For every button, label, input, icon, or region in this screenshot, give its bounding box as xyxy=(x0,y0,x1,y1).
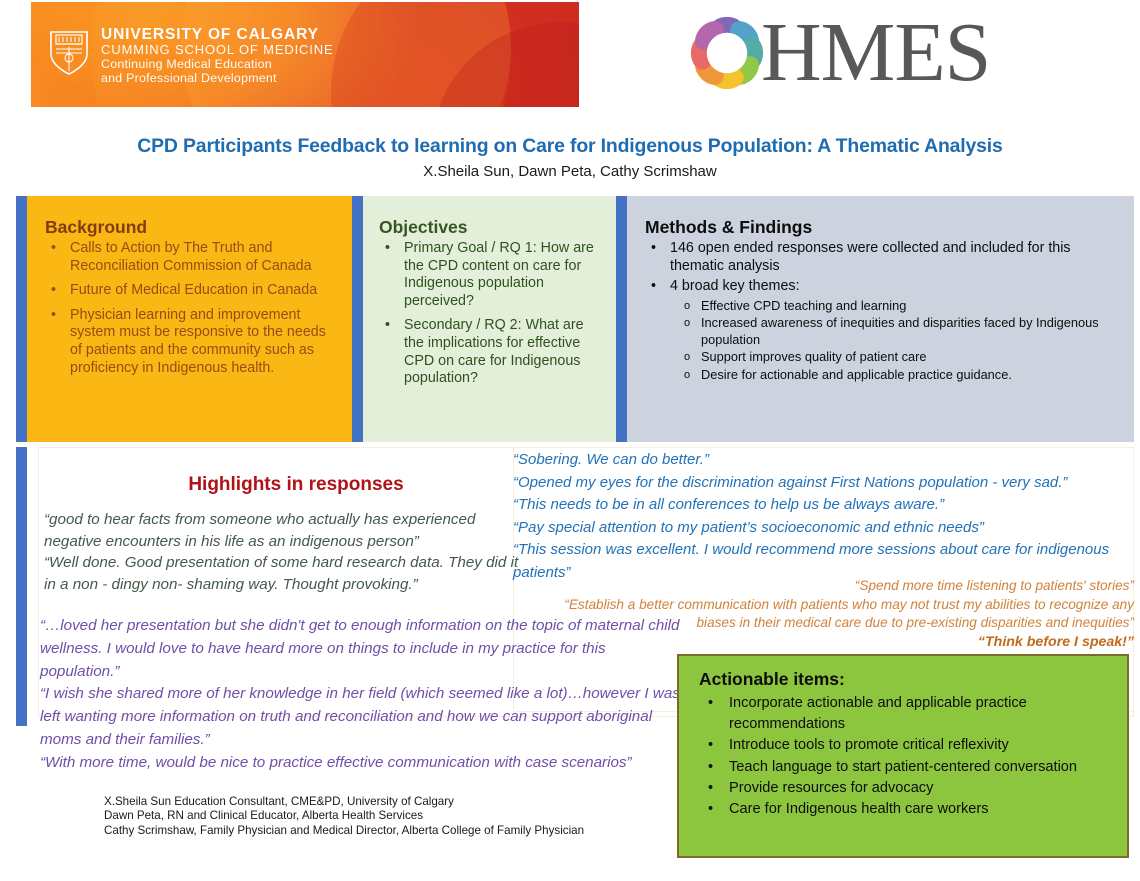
list-item: •4 broad key themes: oEffective CPD teac… xyxy=(645,278,1122,383)
bullet-icon: • xyxy=(651,278,656,296)
list-item-text: Care for Indigenous health care workers xyxy=(729,801,989,817)
list-item: oSupport improves quality of patient car… xyxy=(670,349,1122,366)
quote-text: “Pay special attention to my patient’s s… xyxy=(513,517,1133,540)
quote-text: “Well done. Good presentation of some ha… xyxy=(44,552,522,595)
bullet-icon: • xyxy=(708,778,713,799)
list-item-text: 146 open ended responses were collected … xyxy=(670,240,1071,274)
list-item: •Provide resources for advocacy xyxy=(699,778,1117,799)
list-item: oIncreased awareness of inequities and d… xyxy=(670,315,1122,348)
uofc-line-2: CUMMING SCHOOL OF MEDICINE xyxy=(101,43,334,58)
blue-divider-bar-lower xyxy=(16,447,27,726)
green-quote-group: “good to hear facts from someone who act… xyxy=(44,509,522,595)
list-item: •Care for Indigenous health care workers xyxy=(699,799,1117,820)
highlights-heading: Highlights in responses xyxy=(86,473,506,497)
blue-divider-bar-middle-1 xyxy=(352,196,363,442)
quote-text: “…loved her presentation but she didn't … xyxy=(40,615,688,683)
list-item-text: Effective CPD teaching and learning xyxy=(701,298,906,313)
list-item-text: Physician learning and improvement syste… xyxy=(70,307,326,376)
quote-text: “This needs to be in all conferences to … xyxy=(513,494,1133,517)
background-list: •Calls to Action by The Truth and Reconc… xyxy=(45,240,338,377)
panel-methods-and-findings: Methods & Findings •146 open ended respo… xyxy=(627,196,1134,442)
circle-bullet-icon: o xyxy=(684,298,690,315)
list-item-text: Desire for actionable and applicable pra… xyxy=(701,367,1012,382)
list-item: •Primary Goal / RQ 1: How are the CPD co… xyxy=(379,240,606,310)
methods-themes-list: oEffective CPD teaching and learning oIn… xyxy=(670,298,1122,384)
bullet-icon: • xyxy=(708,735,713,756)
blue-divider-bar-left xyxy=(16,196,27,442)
list-item: •Introduce tools to promote critical ref… xyxy=(699,735,1117,756)
methods-heading: Methods & Findings xyxy=(645,216,1122,238)
quote-text: “good to hear facts from someone who act… xyxy=(44,509,522,552)
circle-bullet-icon: o xyxy=(684,315,690,332)
methods-list: •146 open ended responses were collected… xyxy=(645,240,1122,383)
list-item: •Incorporate actionable and applicable p… xyxy=(699,693,1117,735)
list-item: •146 open ended responses were collected… xyxy=(645,240,1122,275)
list-item: •Teach language to start patient-centere… xyxy=(699,757,1117,778)
title-block: CPD Participants Feedback to learning on… xyxy=(0,134,1140,182)
actionable-items-box: Actionable items: •Incorporate actionabl… xyxy=(677,654,1129,858)
bullet-icon: • xyxy=(51,240,56,258)
quote-text: “Opened my eyes for the discrimination a… xyxy=(513,472,1133,495)
bullet-icon: • xyxy=(651,240,656,258)
uofc-line-3: Continuing Medical Education xyxy=(101,58,334,72)
list-item: •Physician learning and improvement syst… xyxy=(45,307,338,377)
list-item: •Future of Medical Education in Canada xyxy=(45,282,338,300)
list-item: •Secondary / RQ 2: What are the implicat… xyxy=(379,317,606,387)
university-crest-icon xyxy=(47,28,91,76)
uofc-line-4: and Professional Development xyxy=(101,72,334,86)
bullet-icon: • xyxy=(385,240,390,258)
hmes-ring-icon xyxy=(683,9,771,97)
bullet-icon: • xyxy=(708,693,713,714)
list-item-text: Secondary / RQ 2: What are the implicati… xyxy=(404,317,584,386)
bullet-icon: • xyxy=(51,307,56,325)
list-item-text: Future of Medical Education in Canada xyxy=(70,282,317,298)
author-list: X.Sheila Sun, Dawn Peta, Cathy Scrimshaw xyxy=(0,161,1140,182)
list-item-text: Teach language to start patient-centered… xyxy=(729,759,1077,775)
quote-text: “Sobering. We can do better.” xyxy=(513,449,1133,472)
panel-objectives: Objectives •Primary Goal / RQ 1: How are… xyxy=(363,196,616,442)
list-item-text: Increased awareness of inequities and di… xyxy=(701,315,1099,347)
university-of-calgary-wordmark: UNIVERSITY OF CALGARY CUMMING SCHOOL OF … xyxy=(101,26,334,86)
list-item-text: Incorporate actionable and applicable pr… xyxy=(729,695,1027,732)
background-heading: Background xyxy=(45,216,338,238)
circle-bullet-icon: o xyxy=(684,349,690,366)
uofc-line-1: UNIVERSITY OF CALGARY xyxy=(101,26,334,43)
list-item-text: Primary Goal / RQ 1: How are the CPD con… xyxy=(404,240,594,309)
objectives-list: •Primary Goal / RQ 1: How are the CPD co… xyxy=(379,240,606,388)
author-credits: X.Sheila Sun Education Consultant, CME&P… xyxy=(104,795,704,838)
list-item-text: Provide resources for advocacy xyxy=(729,780,933,796)
list-item-text: Introduce tools to promote critical refl… xyxy=(729,737,1009,753)
poster-header: UNIVERSITY OF CALGARY CUMMING SCHOOL OF … xyxy=(0,0,1140,112)
list-item-text: Calls to Action by The Truth and Reconci… xyxy=(70,240,312,274)
top-panels-row: Background •Calls to Action by The Truth… xyxy=(16,196,1134,442)
page-title: CPD Participants Feedback to learning on… xyxy=(0,134,1140,159)
credit-line: X.Sheila Sun Education Consultant, CME&P… xyxy=(104,795,704,809)
bullet-icon: • xyxy=(385,317,390,335)
hmes-logo: HMES xyxy=(683,5,1035,101)
list-item-text: Support improves quality of patient care xyxy=(701,349,927,364)
university-of-calgary-banner: UNIVERSITY OF CALGARY CUMMING SCHOOL OF … xyxy=(31,2,579,107)
credit-line: Dawn Peta, RN and Clinical Educator, Alb… xyxy=(104,809,704,823)
blue-quote-group: “Sobering. We can do better.” “Opened my… xyxy=(513,449,1133,585)
list-item-text: 4 broad key themes: xyxy=(670,278,800,294)
actionable-list: •Incorporate actionable and applicable p… xyxy=(699,693,1117,820)
list-item: •Calls to Action by The Truth and Reconc… xyxy=(45,240,338,275)
bullet-icon: • xyxy=(51,282,56,300)
quote-text: “I wish she shared more of her knowledge… xyxy=(40,683,688,751)
hmes-wordmark: HMES xyxy=(761,11,990,95)
panel-background: Background •Calls to Action by The Truth… xyxy=(27,196,352,442)
list-item: oEffective CPD teaching and learning xyxy=(670,298,1122,315)
bullet-icon: • xyxy=(708,757,713,778)
quote-text: “With more time, would be nice to practi… xyxy=(40,752,688,775)
credit-line: Cathy Scrimshaw, Family Physician and Me… xyxy=(104,824,704,838)
circle-bullet-icon: o xyxy=(684,367,690,384)
quote-text: “Spend more time listening to patients' … xyxy=(528,577,1134,596)
purple-quote-group: “…loved her presentation but she didn't … xyxy=(40,615,688,775)
list-item: oDesire for actionable and applicable pr… xyxy=(670,367,1122,384)
blue-divider-bar-middle-2 xyxy=(616,196,627,442)
bullet-icon: • xyxy=(708,799,713,820)
actionable-heading: Actionable items: xyxy=(699,668,1117,691)
objectives-heading: Objectives xyxy=(379,216,606,238)
